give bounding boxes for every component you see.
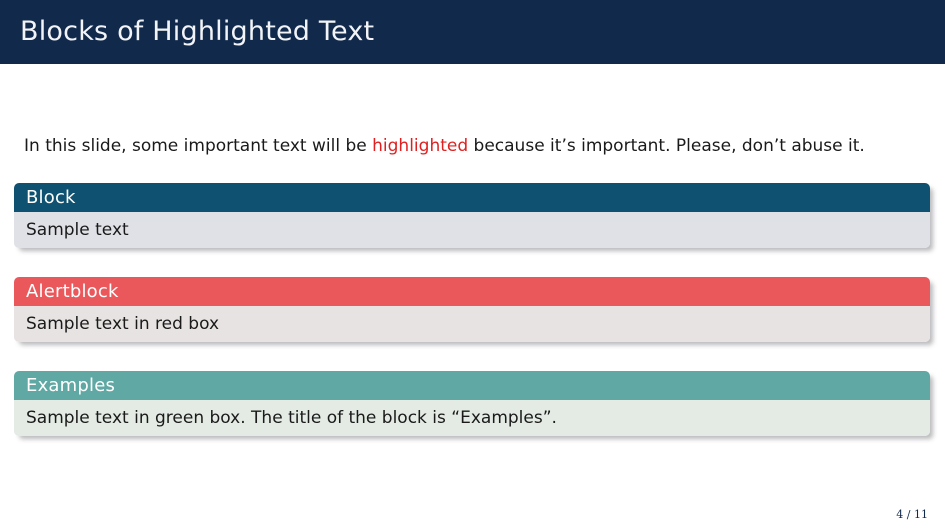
- intro-text-after: because it’s important. Please, don’t ab…: [468, 136, 865, 156]
- slide-canvas: Blocks of Highlighted Text In this slide…: [0, 0, 945, 532]
- intro-text-before: In this slide, some important text will …: [24, 136, 372, 156]
- highlighted-word: highlighted: [372, 136, 468, 156]
- block-standard-body: Sample text: [14, 212, 930, 248]
- block-standard-title: Block: [14, 183, 930, 212]
- block-alert: Alertblock Sample text in red box: [14, 277, 930, 342]
- slide-title: Blocks of Highlighted Text: [20, 16, 374, 48]
- block-example-title: Examples: [14, 371, 930, 400]
- slide-title-bar: Blocks of Highlighted Text: [0, 0, 945, 64]
- block-standard: Block Sample text: [14, 183, 930, 248]
- block-example: Examples Sample text in green box. The t…: [14, 371, 930, 436]
- block-example-body: Sample text in green box. The title of t…: [14, 400, 930, 436]
- page-number: 4 / 11: [896, 508, 928, 522]
- block-alert-title: Alertblock: [14, 277, 930, 306]
- intro-paragraph: In this slide, some important text will …: [24, 135, 904, 158]
- block-alert-body: Sample text in red box: [14, 306, 930, 342]
